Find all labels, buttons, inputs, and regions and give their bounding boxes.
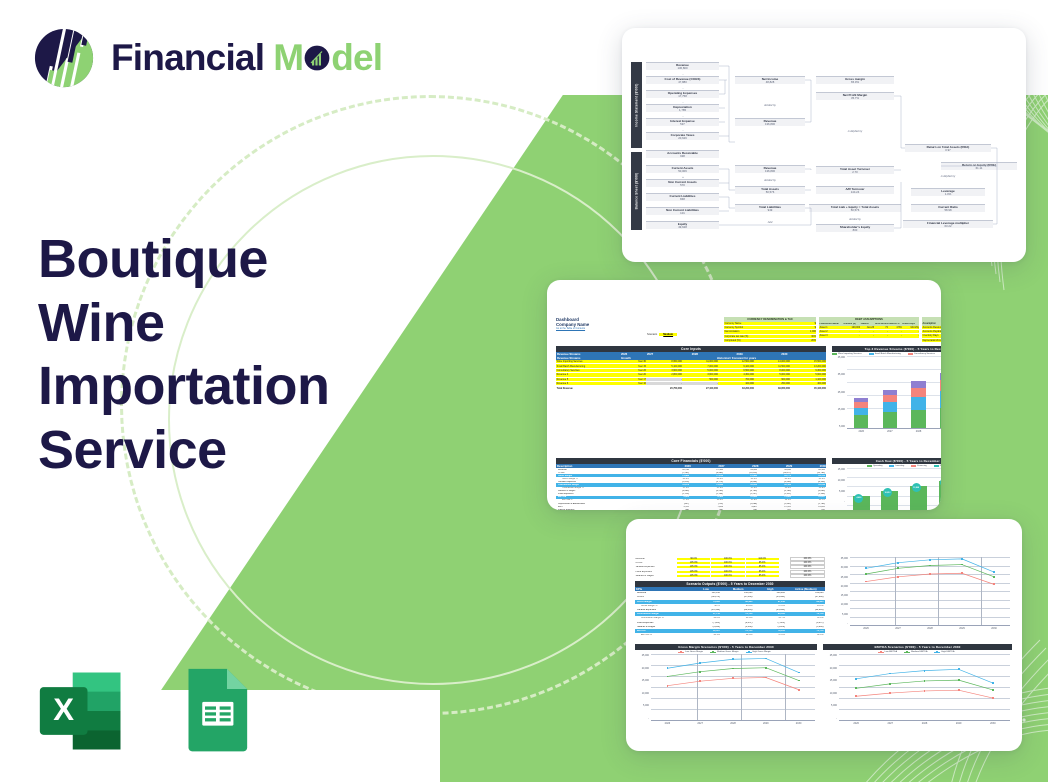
working-capital-panel: WORKING CAPITAL & DEPRECIATION Assumptio…	[922, 317, 941, 343]
table-cell: 11,500,000	[754, 365, 790, 368]
table-cell: 20,750	[656, 469, 690, 471]
legend-swatch	[869, 353, 874, 355]
legend-item: Medium Gross Margin	[710, 651, 739, 653]
table-cell: 13,682	[758, 496, 792, 498]
table-cell: (1,194)	[690, 493, 724, 495]
table-cell: 105.0%	[677, 575, 711, 577]
table-cell: 13,488	[656, 475, 690, 477]
table-cell: 14,000,000	[754, 360, 790, 363]
data-point-marker	[667, 676, 669, 678]
legend-label: Net Cash Flow	[940, 465, 941, 467]
page-title: Boutique Wine Importation Service	[38, 228, 438, 483]
table-cell: 100.0%	[711, 566, 745, 568]
table-cell: 29,315	[792, 475, 826, 477]
legend-swatch	[867, 465, 872, 467]
table-cell: Year 26	[620, 369, 646, 372]
table-cell: 3,600,000	[682, 373, 718, 376]
table-cell: Total Revenue	[556, 387, 620, 390]
table-cell: Currency Symbol	[724, 326, 782, 329]
data-point-marker	[798, 672, 800, 674]
table-cell: 90.0%	[677, 558, 711, 560]
table-cell: (6,399)	[792, 481, 826, 483]
page-title-line-1: Boutique	[38, 228, 438, 292]
data-point-marker	[699, 680, 701, 682]
table-cell: (4,648)	[724, 481, 758, 483]
table-cell: 97,340	[754, 601, 786, 603]
slide-canvas: FinancialMdel Boutique Wine Importation …	[0, 0, 1048, 782]
data-point-marker	[765, 658, 767, 660]
table-cell: (21,840)	[754, 609, 786, 611]
brand-logo[interactable]: FinancialMdel	[33, 27, 382, 89]
table-cell: EBITDA %	[556, 499, 656, 501]
table-cell: Year 20	[620, 373, 646, 376]
table-cell: 95.0%	[746, 566, 780, 568]
table-cell: 5,312	[656, 506, 690, 508]
table-cell: 100.0%	[711, 575, 745, 577]
table-cell: (1,321)	[758, 493, 792, 495]
microsoft-excel-icon[interactable]: X	[36, 667, 128, 755]
table-cell: 25,773	[758, 475, 792, 477]
table-cell: 100.0%	[711, 558, 745, 560]
x-tick-label: 2028	[922, 722, 928, 725]
table-cell: 51.0%	[724, 487, 758, 489]
legend-item: High EBITDA	[934, 651, 954, 653]
data-point-marker	[855, 678, 857, 680]
data-point-marker	[732, 658, 734, 660]
table-cell: 39,650,000	[754, 387, 790, 390]
core-financials-table: Core Financials ($'000) Description 2026…	[556, 458, 826, 510]
table-cell: Small Batch Manufacturing	[556, 365, 620, 368]
data-point-marker	[798, 680, 800, 682]
y-tick-label: 5,000	[839, 425, 845, 428]
data-point-marker	[732, 677, 734, 679]
data-point-marker	[667, 667, 669, 669]
data-label-bubble: 4,400	[854, 494, 863, 503]
table-cell: 47.0%	[754, 634, 786, 636]
legend-item: Financing	[911, 465, 927, 467]
legend-marker	[712, 651, 714, 653]
y-tick-label: 10,000	[830, 692, 837, 695]
table-cell: (5,590)	[758, 481, 792, 483]
legend-label: Low Gross Margin	[685, 651, 703, 653]
table-cell: 100.0%	[711, 562, 745, 564]
legend-item: Wine Importing Services	[832, 353, 862, 355]
table-cell: (45,990)	[754, 596, 786, 598]
legend-label: Medium Gross Margin	[717, 651, 739, 653]
table-row: Asset 3-----	[819, 334, 919, 338]
table-cell: 52,007	[689, 630, 721, 632]
table-cell: -	[874, 330, 888, 333]
table-cell: (47,880)	[721, 596, 753, 598]
legend-label: High EBITDA	[941, 651, 954, 653]
x-tick-label: 2028	[916, 430, 922, 433]
table-cell: Gross Margin %	[635, 605, 689, 607]
table-cell: 95.0%	[746, 562, 780, 564]
table-cell: -	[646, 382, 682, 385]
financial-model-circle-bars-logo-icon	[33, 27, 95, 89]
table-cell: 9,807	[724, 506, 758, 508]
x-tick-label: 2029	[956, 722, 962, 725]
table-cell: 1,000	[782, 330, 816, 333]
toc-link[interactable]: Go to the Table of Contents	[556, 327, 626, 330]
table-cell: 15,500,000	[790, 360, 826, 363]
brand-name-model-o-icon	[304, 45, 330, 71]
table-cell: 27.3%	[656, 499, 690, 501]
legend-label: Low EBITDA	[885, 651, 898, 653]
bar-group	[854, 356, 868, 428]
table-cell: 7,000,000	[682, 365, 718, 368]
table-cell: (1,441)	[758, 503, 792, 505]
x-tick-label: 2026	[859, 430, 865, 433]
line-series-group	[839, 654, 1010, 720]
table-cell: 30%	[782, 335, 816, 338]
table-cell: 136,800	[786, 592, 825, 594]
table-cell: 100,000	[843, 326, 860, 329]
table-cell: $	[782, 322, 816, 325]
table-cell: 51.5%	[656, 487, 690, 489]
y-tick-label: 25,000	[838, 391, 845, 394]
legend-swatch	[878, 652, 884, 653]
y-tick-label: 15,000	[838, 408, 845, 411]
revenue-streams-chart: Top 3 Revenue Streams ($'000) - 5 Years …	[832, 346, 941, 438]
table-cell: 4.5%	[888, 326, 902, 329]
table-cell: 51.0%	[721, 617, 753, 619]
table-cell: 88,920	[721, 601, 753, 603]
table-cell: COGS	[556, 472, 656, 474]
legend-swatch	[908, 353, 913, 355]
table-cell: Jan-26	[860, 326, 874, 329]
x-tick-label: 2027	[887, 430, 893, 433]
table-cell: 8,000,000	[754, 369, 790, 372]
table-cell: Variable Expenses	[556, 481, 656, 483]
table-cell: 65.0%	[690, 478, 724, 480]
table-cell: 95.0%	[746, 575, 780, 577]
table-cell: -	[902, 334, 919, 337]
y-tick-label: 15,000	[838, 468, 845, 471]
scenario-selector[interactable]: Scenario Medium	[647, 333, 717, 336]
table-cell: 3,900,000	[646, 369, 682, 372]
table-cell: (22,883)	[786, 609, 825, 611]
y-tick-label: 35,000	[841, 557, 848, 560]
currency-panel: CURRENCY DENOMINATION & TAX Currency Nam…	[724, 317, 816, 343]
y-tick-label: -	[847, 622, 848, 625]
table-cell: Revenue	[635, 558, 677, 560]
data-point-marker	[961, 564, 963, 566]
legend-item: High Gross Margin	[746, 651, 771, 653]
legend-label: Investing	[895, 465, 904, 467]
bar-segment	[911, 397, 925, 410]
table-cell: (13,877)	[758, 472, 792, 474]
table-cell: (21)	[758, 509, 792, 510]
data-point-marker	[929, 573, 931, 575]
table-cell: Gross Margin	[556, 475, 656, 477]
legend-marker	[748, 651, 750, 653]
x-tick-label: 2027	[697, 722, 703, 725]
table-cell: 105.0%	[677, 566, 711, 568]
table-cell: 5,000,000	[754, 373, 790, 376]
table-cell: 5,669	[656, 496, 690, 498]
data-point-marker	[897, 562, 899, 564]
table-cell: 5,600,000	[790, 373, 826, 376]
legend-swatch	[904, 652, 910, 653]
table-cell: 1,100,000	[790, 378, 826, 381]
legend-swatch	[678, 652, 684, 653]
y-tick-label: 35,000	[838, 373, 845, 376]
y-tick-label: 10,000	[838, 479, 845, 482]
data-point-marker	[732, 668, 734, 670]
scenario-analysis-card[interactable]: Revenue90.0%100.0%110.0%100.0%COGS105.0%…	[626, 519, 1022, 751]
data-point-marker	[889, 692, 891, 694]
google-sheets-icon[interactable]	[170, 667, 262, 755]
table-cell: Assumption	[922, 323, 941, 325]
table-cell: 700,000	[718, 378, 754, 381]
table-cell: Amount ($)	[843, 323, 860, 325]
table-row: Completed (%)20%	[724, 339, 816, 343]
table-cell: 5,100,000	[646, 365, 682, 368]
y-tick-label: 10,000	[642, 692, 649, 695]
table-cell: 50.8%	[792, 487, 826, 489]
legend-swatch	[746, 652, 752, 653]
table-cell: 65.0%	[758, 478, 792, 480]
data-point-marker	[889, 673, 891, 675]
table-cell: 16,932	[724, 484, 758, 486]
y-tick-label: 45,000	[838, 356, 845, 359]
bar-segment	[940, 373, 941, 380]
table-cell: (1,088)	[724, 503, 758, 505]
bar-group	[940, 356, 941, 428]
table-cell: (23,196)	[689, 609, 721, 611]
x-tick-label: 2026	[665, 722, 671, 725]
table-cell: Currency Name	[724, 322, 782, 325]
table-cell: (5,680)	[786, 626, 825, 628]
legend-label: Small Batch Manufacturing	[875, 353, 901, 355]
table-cell: 55.7%	[754, 617, 786, 619]
table-cell: 65.0%	[721, 605, 753, 607]
table-cell: 9,100,000	[718, 365, 754, 368]
table-cell: (5,180)	[754, 626, 786, 628]
table-cell: Year 17	[620, 378, 646, 381]
y-tick-label: 20,000	[830, 667, 837, 670]
spacer	[556, 391, 826, 393]
legend-marker	[680, 651, 682, 653]
table-cell: Variable Expenses	[635, 609, 689, 611]
dupont-analysis-card[interactable]: Income Statement ($'000) Balance Sheet (…	[622, 28, 1026, 262]
table-cell: 32.0%	[786, 634, 825, 636]
data-point-marker	[993, 576, 995, 578]
table-cell: 2,800,000	[646, 373, 682, 376]
table-cell: 5,000,000	[682, 369, 718, 372]
y-tick-label: 20,000	[642, 667, 649, 670]
legend-label: Consultancy Services	[914, 353, 935, 355]
table-row: Salaries & Wages105.0%100.0%95.0%100.0%	[635, 574, 825, 578]
legend-label: Financing	[917, 465, 927, 467]
bar-segment	[940, 380, 941, 392]
table-cell: -	[860, 330, 874, 333]
legend-label: High Gross Margin	[753, 651, 771, 653]
legend-label: Medium EBITDA	[911, 651, 927, 653]
table-cell: (48,274)	[689, 596, 721, 598]
table-cell: 32.8%	[724, 499, 758, 501]
x-tick-label: 2029	[959, 627, 965, 630]
page-title-line-2: Wine	[38, 292, 438, 356]
svg-text:X: X	[53, 692, 74, 727]
data-point-marker	[992, 689, 994, 691]
financial-dashboard-card[interactable]: Dashboard Company Name Go to the Table o…	[547, 280, 941, 510]
table-cell: EBIT	[556, 506, 656, 508]
table-cell: -	[888, 334, 902, 337]
table-cell: Accounts Payable Days	[922, 330, 941, 333]
table-cell: Revenue 5	[556, 378, 620, 381]
legend-swatch	[710, 652, 716, 653]
table-cell: (1,785)	[792, 503, 826, 505]
table-cell: Grace Days	[902, 323, 919, 325]
data-point-marker	[958, 668, 960, 670]
table-cell: (4,260)	[690, 490, 724, 492]
brand-name-model-del: del	[331, 37, 382, 79]
data-point-marker	[958, 679, 960, 681]
table-cell: (5,680)	[721, 626, 753, 628]
data-point-marker	[865, 581, 867, 583]
table-cell: 50.9%	[758, 487, 792, 489]
dupont-flowchart: Income Statement ($'000) Balance Sheet (…	[631, 62, 1017, 230]
y-tick-label: 5,000	[842, 613, 848, 616]
table-cell: (5,180)	[758, 490, 792, 492]
ebitda-scenarios-chart: EBITDA Scenarios ($'000) - 5 Years to De…	[823, 644, 1012, 732]
table-cell: Interest %	[888, 323, 902, 325]
table-cell: -	[843, 334, 860, 337]
brand-name-financial: Financial	[111, 37, 264, 79]
y-tick-label: 5,000	[831, 704, 837, 707]
table-cell: 51.0%	[690, 487, 724, 489]
x-tick-label: 2026	[863, 627, 869, 630]
table-cell: Revenue	[556, 469, 656, 471]
table-cell: 9,300,000	[790, 369, 826, 372]
table-cell: Year 10	[620, 382, 646, 385]
data-point-marker	[699, 671, 701, 673]
table-cell: Launch	[860, 323, 874, 325]
data-point-marker	[993, 571, 995, 573]
table-cell: 17,615	[690, 475, 724, 477]
legend-item: Low EBITDA	[878, 651, 898, 653]
table-cell: Fixed Expenses	[635, 622, 689, 624]
table-cell: Gross Margin	[635, 601, 689, 603]
table-cell: Year 15	[620, 365, 646, 368]
table-cell: (1,129)	[656, 493, 690, 495]
data-label-bubble: 13,808	[912, 483, 921, 492]
data-point-marker	[924, 670, 926, 672]
dupont-connectors	[631, 62, 1017, 234]
table-cell: $	[782, 326, 816, 329]
x-tick-label: 2030	[796, 722, 802, 725]
table-cell: EBITDA	[635, 630, 689, 632]
legend-item: Consultancy Services	[908, 353, 935, 355]
table-cell: 27,100	[690, 469, 724, 471]
table-cell: Gross Margin %	[556, 478, 656, 480]
data-point-marker	[961, 558, 963, 560]
legend-item: Operating	[867, 465, 883, 467]
table-cell: 100,000	[718, 382, 754, 385]
x-tick-label: 2030	[990, 722, 996, 725]
table-cell: Salaries & Wages	[556, 490, 656, 492]
table-cell: 45,100	[792, 469, 826, 471]
table-cell: 70,750	[786, 613, 825, 615]
bar-segment	[883, 412, 897, 428]
table-cell: (6,657)	[786, 622, 825, 624]
data-point-marker	[865, 567, 867, 569]
table-cell: Term Months	[874, 323, 888, 325]
table-cell: Contribution Margin %	[556, 487, 656, 489]
x-tick-label: 2029	[763, 722, 769, 725]
core-inputs-table: Core Inputs Revenue Streams 2026 2027 20…	[556, 346, 826, 393]
table-cell: 100.0%	[711, 571, 745, 573]
table-row: Depreciation/Amortisation Years5	[922, 339, 941, 343]
y-tick-label: -	[836, 717, 837, 720]
table-cell: -	[902, 330, 919, 333]
table-cell: Inventory Days	[922, 334, 941, 337]
data-point-marker	[924, 690, 926, 692]
table-cell: (357)	[656, 503, 690, 505]
table-cell: (15,785)	[792, 472, 826, 474]
bar-segment	[883, 402, 897, 412]
table-cell: EBITDA %	[635, 634, 689, 636]
table-cell: 65.0%	[656, 478, 690, 480]
table-cell: 110.0%	[746, 558, 780, 560]
table-cell: 8,950,000	[646, 360, 682, 363]
x-tick-label: 2028	[927, 627, 933, 630]
bar-segment	[854, 408, 868, 415]
table-cell: 20,183	[758, 484, 792, 486]
y-tick-label: 25,000	[642, 654, 649, 657]
table-cell: 14,052	[792, 506, 826, 508]
table-cell: (7,021)	[754, 622, 786, 624]
page-title-line-4: Service	[38, 419, 438, 483]
legend-marker	[906, 651, 908, 653]
table-cell: 12,241	[758, 506, 792, 508]
data-point-marker	[889, 683, 891, 685]
table-cell: 34.5%	[758, 499, 792, 501]
table-cell: 144,480	[754, 592, 786, 594]
scenario-value[interactable]: Medium	[659, 333, 677, 336]
table-cell: 13,836	[690, 484, 724, 486]
table-cell: 105.0%	[677, 571, 711, 573]
table-cell: -	[843, 330, 860, 333]
table-cell: Interest Expense	[556, 509, 656, 510]
table-cell: Asset 1	[819, 326, 843, 329]
scenario-assumptions-table: Revenue90.0%100.0%110.0%100.0%COGS105.0%…	[635, 557, 825, 578]
table-cell: (11,620)	[724, 472, 758, 474]
table-cell: 45,100,000	[790, 387, 826, 390]
table-cell: 400,000	[790, 382, 826, 385]
table-cell: (9,485)	[690, 472, 724, 474]
table-cell: (3,779)	[690, 481, 724, 483]
data-point-marker	[929, 559, 931, 561]
page-title-line-3: Importation	[38, 355, 438, 419]
table-cell: Revenue 6	[556, 382, 620, 385]
data-point-marker	[667, 685, 669, 687]
table-cell: 80,530	[754, 613, 786, 615]
data-point-marker	[765, 677, 767, 679]
table-cell: 10,678	[656, 484, 690, 486]
table-cell: Depreciation/Amortisation Years	[922, 339, 941, 342]
table-cell: -	[888, 330, 902, 333]
table-cell: Contribution Margin	[556, 484, 656, 486]
table-cell: Fixed Expenses	[556, 493, 656, 495]
table-cell: 20,750,000	[646, 387, 682, 390]
table-cell: Corporate tax rate (%)	[724, 335, 782, 338]
table-cell: 65.0%	[786, 605, 825, 607]
y-tick-label: 25,000	[830, 654, 837, 657]
table-cell: 58.70	[689, 605, 721, 607]
